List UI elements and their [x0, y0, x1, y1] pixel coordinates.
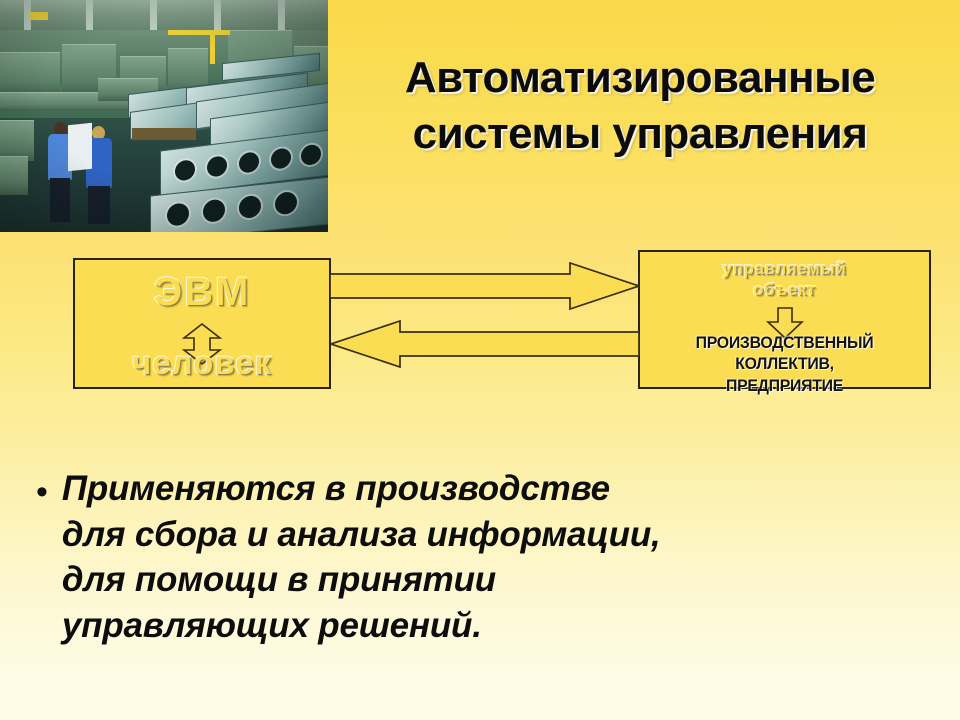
slide-canvas: Автоматизированные системы управления ЭВ… [0, 0, 960, 720]
page-title: Автоматизированные системы управления [330, 50, 950, 163]
human-label: человек [75, 344, 329, 382]
connector-arrow-right-icon [330, 262, 640, 310]
factory-photo [0, 0, 328, 232]
production-collective-line-2: ПРЕДПРИЯТИЕ [650, 376, 920, 397]
diagram-box-managed-object: управляемый объект ПРОИЗВОДСТВЕННЫЙ КОЛЛ… [638, 250, 931, 389]
bullet-list: • Применяются в производстве для сбора и… [36, 466, 926, 648]
production-collective-label: ПРОИЗВОДСТВЕННЫЙ КОЛЛЕКТИВ, ПРЕДПРИЯТИЕ [650, 333, 920, 397]
diagram-box-computer-human: ЭВМ человек [73, 258, 331, 389]
evm-label: ЭВМ [75, 270, 329, 315]
bullet-item-text: Применяются в производстве для сбора и а… [62, 466, 672, 648]
photo-vignette [0, 0, 328, 232]
page-title-line-2: системы управления [330, 106, 950, 162]
page-title-line-1: Автоматизированные [330, 50, 950, 106]
connector-arrow-left-icon [330, 320, 640, 368]
bullet-marker-icon: • [36, 466, 48, 518]
managed-object-label-line-1: управляемый [640, 258, 929, 279]
control-system-diagram: ЭВМ человек управляемый объект ПРОИЗВОДС… [0, 232, 960, 432]
managed-object-label-line-2: объект [640, 279, 929, 300]
managed-object-label: управляемый объект [640, 258, 929, 301]
production-collective-line-1: ПРОИЗВОДСТВЕННЫЙ КОЛЛЕКТИВ, [650, 333, 920, 376]
